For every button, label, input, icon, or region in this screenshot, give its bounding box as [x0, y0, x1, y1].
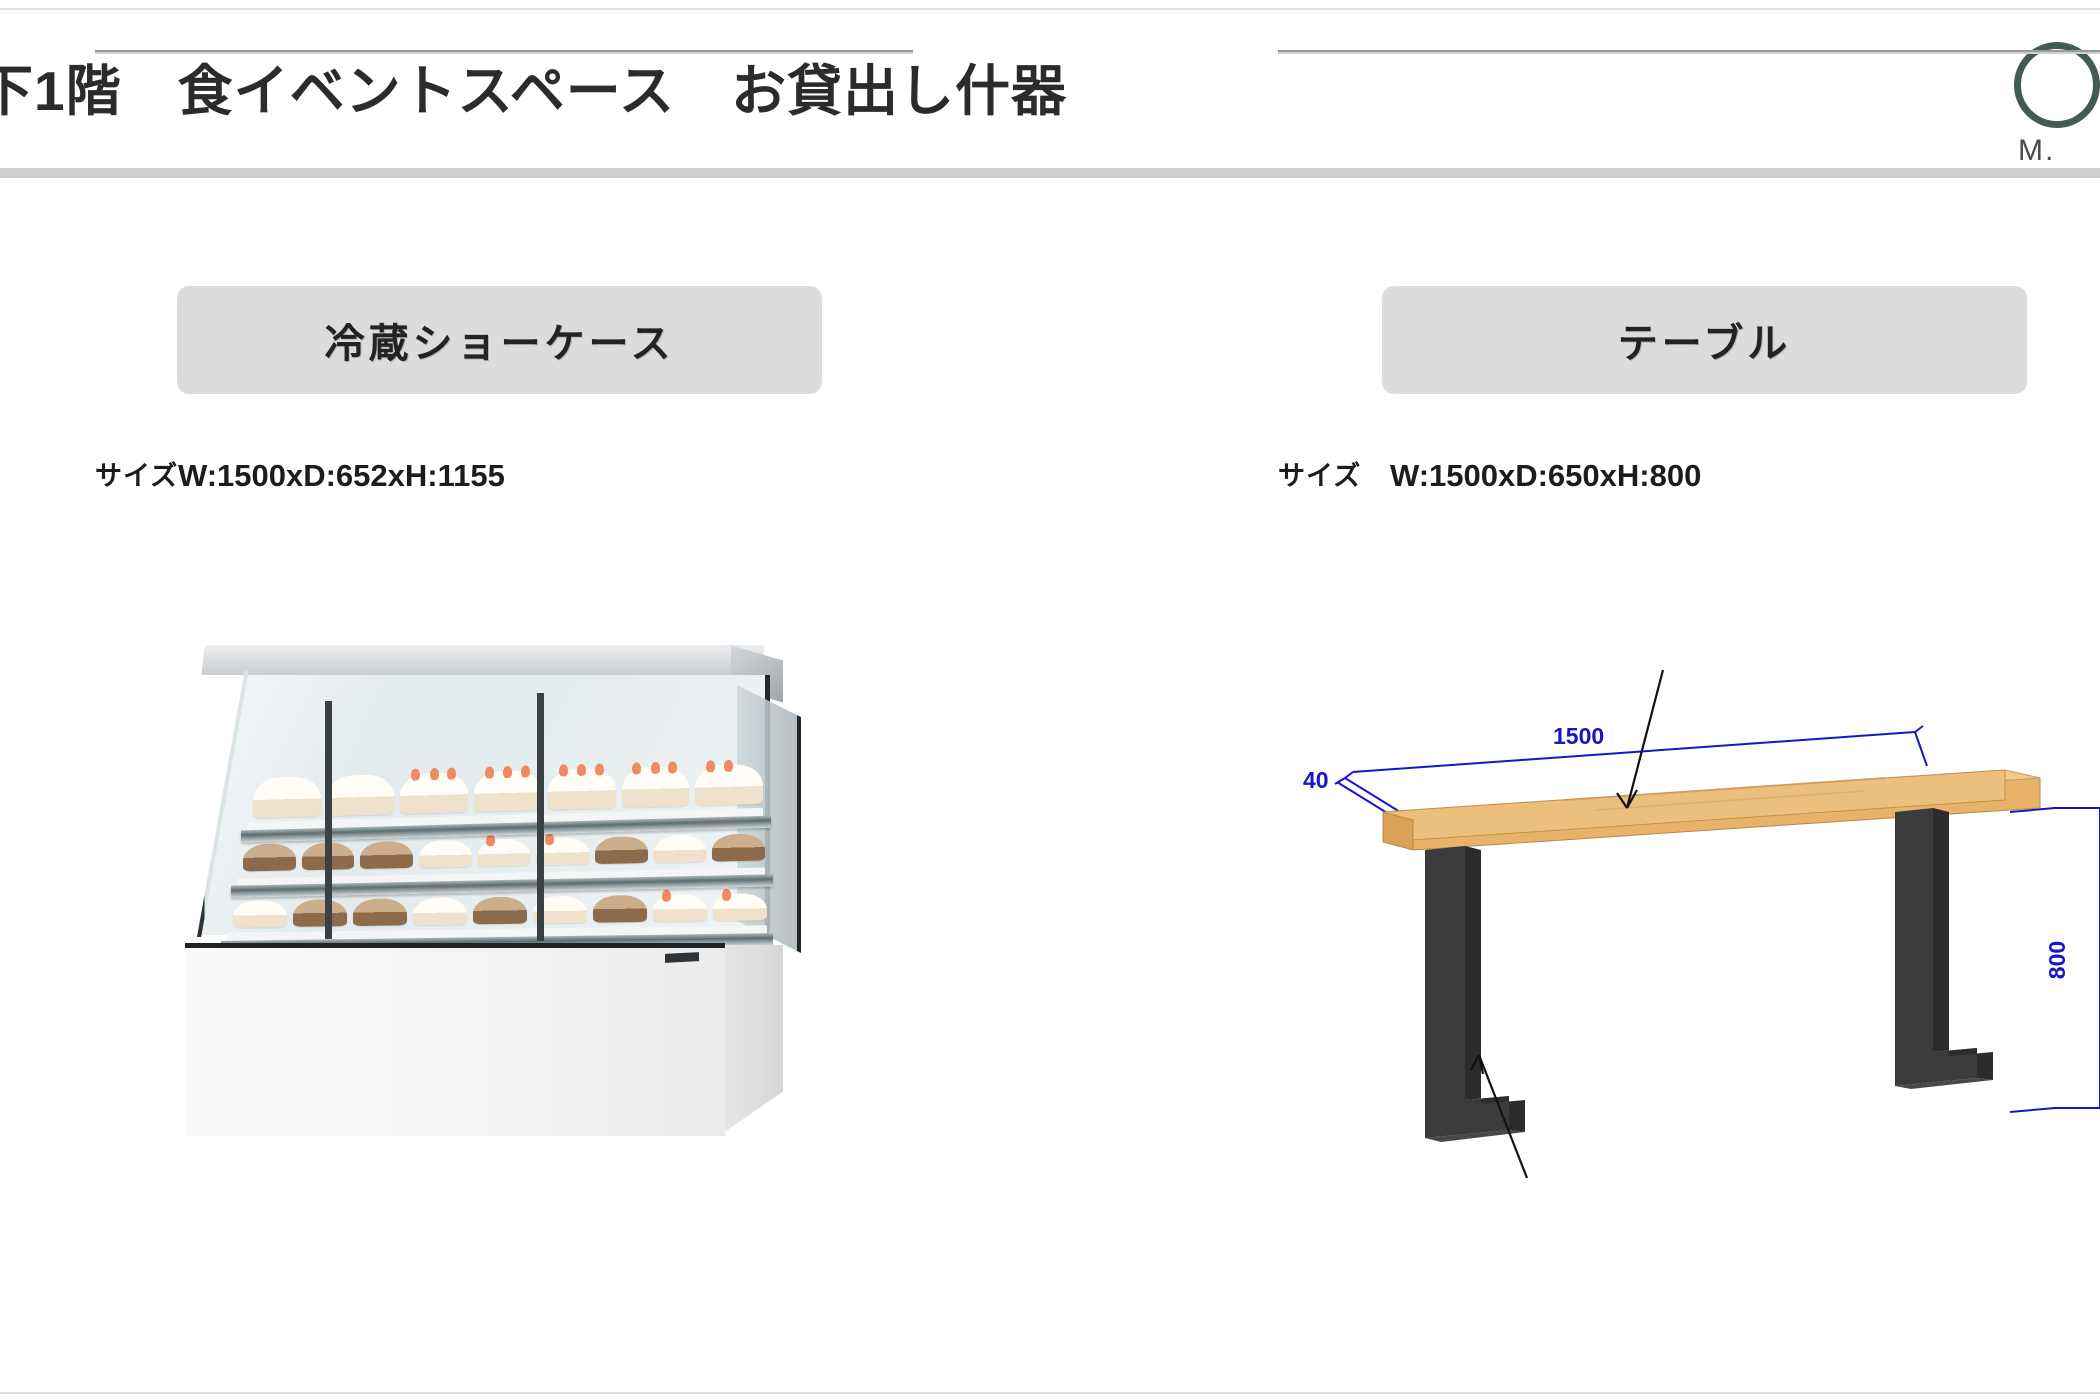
cake-item: [713, 893, 767, 921]
showcase-glass-mullion: [325, 701, 332, 939]
size-row-showcase: サイズ W:1500xD:652xH:1155: [95, 448, 925, 500]
cake-item: [474, 770, 542, 812]
section-pill-label-table: テーブル: [1618, 311, 1792, 369]
cake-item: [327, 774, 395, 816]
size-value-showcase: W:1500xD:652xH:1155: [178, 458, 505, 494]
dimension-label-40: 40: [1303, 767, 1329, 793]
cake-item: [360, 841, 413, 869]
section-pill-showcase: 冷蔵ショーケース: [177, 286, 822, 394]
cake-item: [712, 834, 765, 862]
cake-item: [654, 835, 707, 863]
showcase-glass-mullion: [537, 693, 544, 941]
cake-item: [233, 900, 287, 928]
cake-item: [695, 764, 763, 806]
size-underline-table: [1278, 50, 2100, 54]
size-label-showcase: サイズ: [95, 454, 178, 493]
callout-leader-top: [1617, 670, 1663, 808]
page-root: 下1階 食イベントスペース お貸出し什器 M. 冷蔵ショーケース サイズ W:1…: [0, 0, 2100, 1400]
cake-item: [622, 766, 690, 808]
table-cad-drawing: 1500 40 800: [1265, 660, 2100, 1180]
cake-item: [419, 840, 472, 868]
size-value-table: W:1500xD:650xH:800: [1390, 458, 1701, 494]
table-leg-right: [1895, 808, 1993, 1089]
showcase-base-side: [723, 945, 783, 1133]
cake-item: [653, 894, 707, 922]
cake-item: [593, 895, 647, 923]
showcase-product-image: [185, 645, 815, 1135]
bottom-hairline-divider: [0, 1392, 2100, 1394]
showcase-base-front: [185, 943, 725, 1136]
dimension-label-1500: 1500: [1553, 723, 1604, 749]
cake-item: [548, 768, 616, 810]
dimension-label-800: 800: [2044, 941, 2070, 979]
size-label-table: サイズ: [1278, 454, 1361, 493]
cake-item: [536, 837, 589, 865]
showcase-top-cap: [201, 645, 764, 675]
cake-item: [400, 772, 468, 814]
showcase-brand-badge: [665, 952, 699, 963]
cake-item: [353, 898, 407, 926]
cake-item: [595, 836, 648, 864]
section-pill-label-showcase: 冷蔵ショーケース: [325, 311, 675, 369]
cake-item: [243, 843, 296, 871]
cake-item: [293, 899, 347, 927]
section-pill-table: テーブル: [1382, 286, 2027, 394]
cake-item: [478, 838, 531, 866]
cake-item: [473, 897, 527, 925]
size-row-table: サイズ W:1500xD:650xH:800: [1278, 448, 2100, 500]
cake-item: [413, 897, 467, 925]
cake-item: [253, 776, 321, 818]
table-leg-left: [1425, 846, 1525, 1142]
section-refrigerated-showcase: 冷蔵ショーケース サイズ W:1500xD:652xH:1155: [0, 0, 1030, 1400]
size-underline-showcase: [95, 50, 913, 54]
